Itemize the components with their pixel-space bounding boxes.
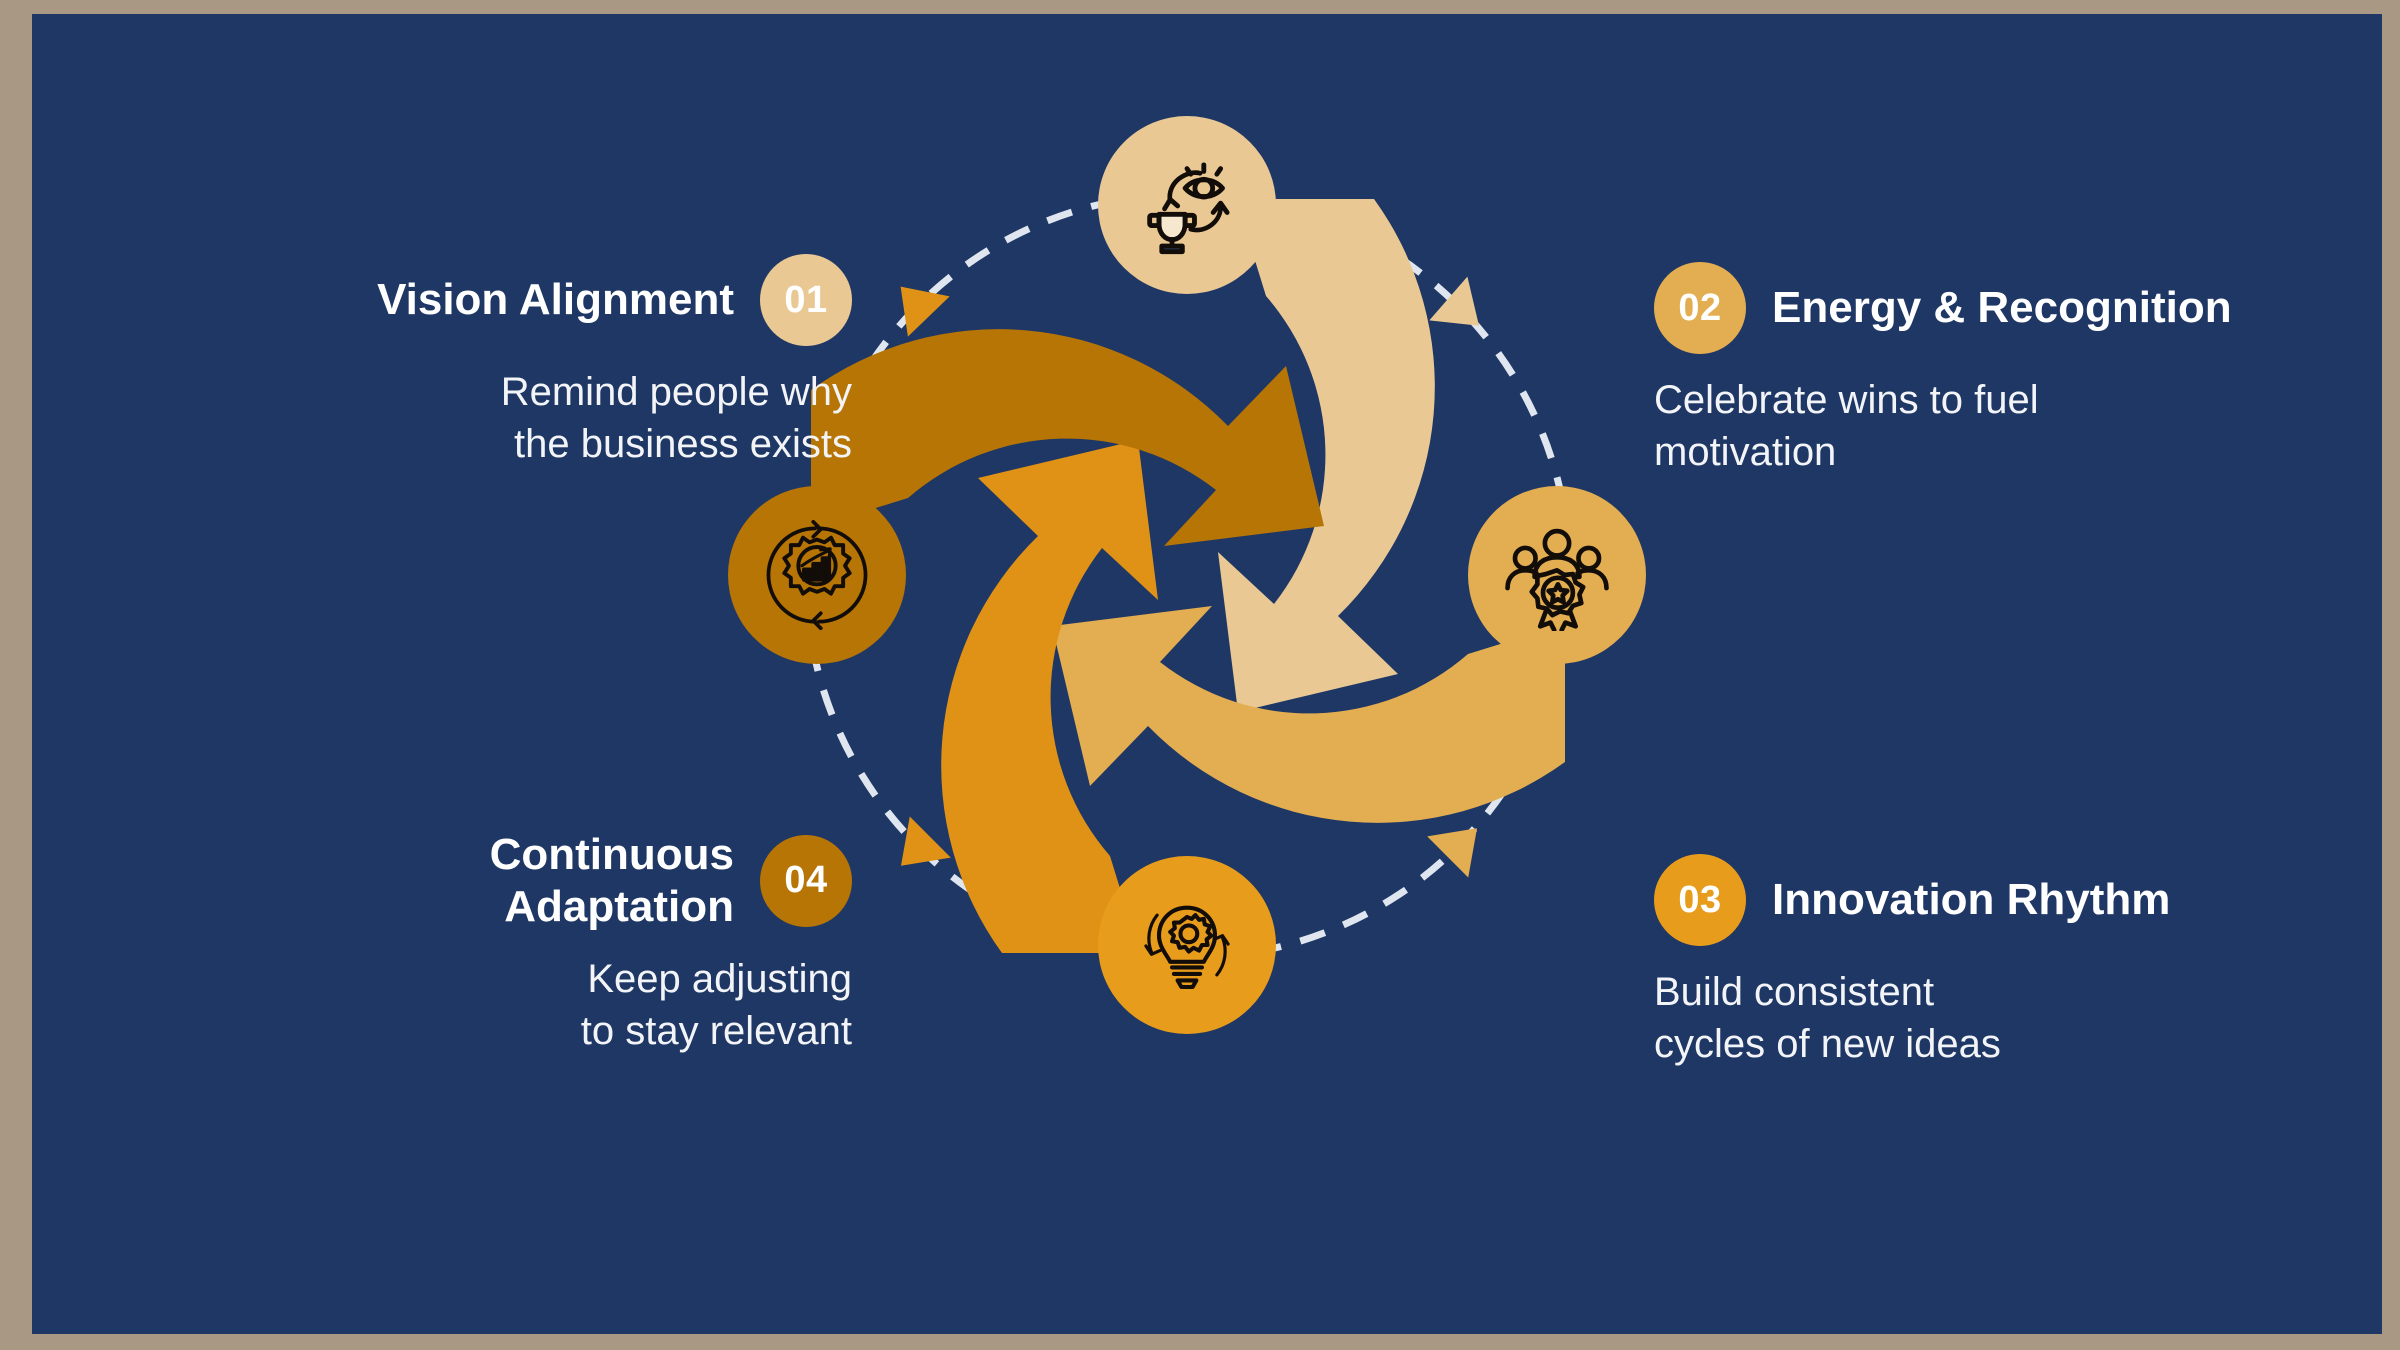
step-header-01: Vision Alignment 01 xyxy=(72,254,852,346)
icon-bubble-vision[interactable] xyxy=(1098,116,1276,294)
icon-bubble-innovation[interactable] xyxy=(1098,856,1276,1034)
step-description-02: Celebrate wins to fuel motivation xyxy=(1654,374,2382,478)
step-badge-02: 02 xyxy=(1654,262,1746,354)
ring-arrowhead-bottom-left xyxy=(881,815,951,886)
step-title-01: Vision Alignment xyxy=(377,274,734,326)
step-badge-01: 01 xyxy=(760,254,852,346)
lightbulb-gear-cycle-icon xyxy=(1131,889,1243,1001)
gear-growth-chart-icon xyxy=(761,519,873,631)
slide-frame: Vision Alignment 01 Remind people why th… xyxy=(0,0,2400,1350)
step-badge-04: 04 xyxy=(760,835,852,927)
step-description-01: Remind people why the business exists xyxy=(72,366,852,470)
step-block-01: Vision Alignment 01 Remind people why th… xyxy=(72,254,852,470)
vision-eye-trophy-icon xyxy=(1131,149,1243,261)
step-header-02: 02 Energy & Recognition xyxy=(1654,262,2382,354)
step-description-03: Build consistent cycles of new ideas xyxy=(1654,966,2382,1070)
slide-canvas: Vision Alignment 01 Remind people why th… xyxy=(32,14,2382,1334)
step-title-04: Continuous Adaptation xyxy=(490,829,734,933)
step-title-02: Energy & Recognition xyxy=(1772,282,2232,334)
icon-bubble-adaptation[interactable] xyxy=(728,486,906,664)
step-title-03: Innovation Rhythm xyxy=(1772,874,2170,926)
step-block-04: Continuous Adaptation 04 Keep adjusting … xyxy=(72,829,852,1057)
team-award-icon xyxy=(1501,519,1613,631)
step-block-03: 03 Innovation Rhythm Build consistent cy… xyxy=(1654,854,2382,1070)
ring-arrowhead-top-left xyxy=(880,267,951,337)
step-description-04: Keep adjusting to stay relevant xyxy=(72,953,852,1057)
step-header-03: 03 Innovation Rhythm xyxy=(1654,854,2382,946)
step-header-04: Continuous Adaptation 04 xyxy=(72,829,852,933)
icon-bubble-recognition[interactable] xyxy=(1468,486,1646,664)
step-block-02: 02 Energy & Recognition Celebrate wins t… xyxy=(1654,262,2382,478)
step-badge-03: 03 xyxy=(1654,854,1746,946)
